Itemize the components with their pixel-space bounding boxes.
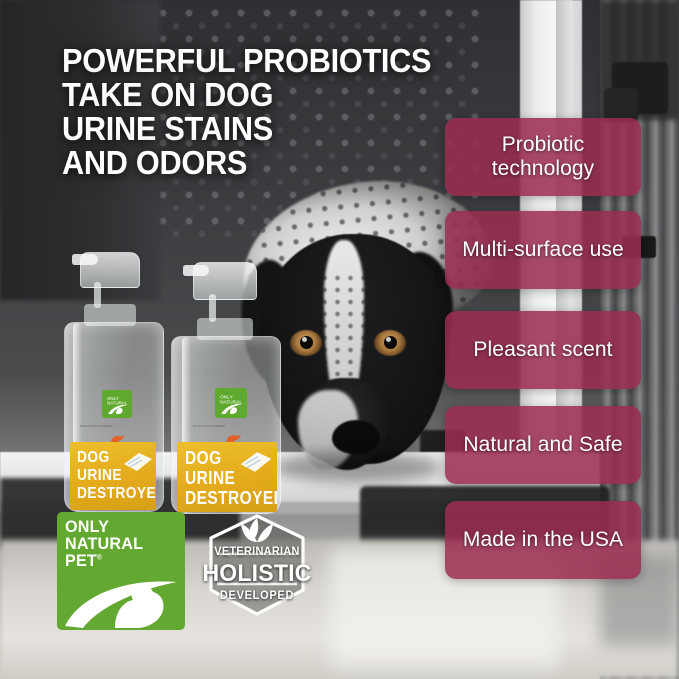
dog-nose bbox=[332, 420, 380, 454]
spray-nozzle-1 bbox=[72, 254, 98, 265]
brand-line-1: ONLY bbox=[65, 518, 143, 535]
bottle-label-line1-2: DOG bbox=[185, 449, 222, 467]
bottle-label-line1-1: DOG bbox=[77, 450, 110, 466]
bottle-dog-icon-1 bbox=[110, 430, 126, 439]
feature-badge-pleasant-scent: Pleasant scent bbox=[445, 311, 641, 389]
page-title: Powerful probiotics take on dog urine st… bbox=[62, 44, 453, 181]
bottle-dog-icon-2 bbox=[225, 430, 241, 439]
feature-badge-made-in-the-usa: Made in the USA bbox=[445, 501, 641, 579]
brand-logo: ONLY NATURAL PET® bbox=[57, 512, 185, 630]
dog-shadow bbox=[272, 452, 442, 482]
product-bottle-1: ONLY NATURAL EUCALYPTUS & ROSEMARY DOG U… bbox=[58, 252, 168, 510]
svg-text:NATURAL: NATURAL bbox=[220, 400, 242, 406]
dog-eye-glint-right bbox=[386, 337, 391, 342]
holistic-bottom-text: DEVELOPED bbox=[200, 590, 314, 602]
headline-line-3: urine stains bbox=[62, 112, 453, 146]
bottle-label-line2-1: URINE bbox=[77, 468, 122, 484]
dog-eye-glint-left bbox=[302, 337, 307, 342]
bottle-label-line3-1: DESTROYER bbox=[77, 486, 156, 502]
bottle-label-1: DOG URINE DESTROYER bbox=[70, 442, 156, 510]
crate-latch-upper-left bbox=[604, 88, 638, 122]
bottle-fineprint-1: EUCALYPTUS & ROSEMARY bbox=[80, 424, 112, 428]
bottle-label-art-2 bbox=[239, 450, 273, 474]
leaf-dog-cat-icon bbox=[57, 564, 185, 630]
brand-logo-text: ONLY NATURAL PET® bbox=[65, 518, 143, 569]
headline-line-4: and odors bbox=[62, 146, 453, 180]
bottle-brand-mark-2: ONLY NATURAL bbox=[215, 388, 247, 418]
brand-trademark: ® bbox=[97, 554, 102, 561]
feature-badge-natural-and-safe: Natural and Safe bbox=[445, 406, 641, 484]
headline-line-2: take on dog bbox=[62, 78, 453, 112]
spray-nozzle-2 bbox=[183, 265, 209, 276]
bottle-label-line3-2: DESTROYER bbox=[185, 489, 277, 507]
feature-badge-multi-surface-use: Multi-surface use bbox=[445, 211, 641, 289]
bottle-label-art-1 bbox=[123, 451, 153, 473]
headline-line-1: Powerful probiotics bbox=[62, 44, 453, 78]
product-bottle-2: ONLY NATURAL EUCALYPTUS & ROSEMARY DOG U… bbox=[167, 262, 283, 512]
bottle-label-2: DOG URINE DESTROYER bbox=[177, 442, 277, 512]
holistic-main-text: HOLISTIC bbox=[199, 560, 314, 588]
bottle-fineprint-2: EUCALYPTUS & ROSEMARY bbox=[193, 424, 225, 428]
veterinarian-holistic-badge: VETERINARIAN HOLISTIC DEVELOPED bbox=[197, 508, 317, 622]
bottle-label-line2-2: URINE bbox=[185, 469, 235, 487]
bottle-brand-mark-1: ONLY NATURAL bbox=[102, 390, 132, 418]
brand-line-2: NATURAL bbox=[65, 535, 143, 552]
advertisement-image: ONLY NATURAL EUCALYPTUS & ROSEMARY DOG U… bbox=[0, 0, 679, 679]
feature-badge-probiotic-technology: Probiotic technology bbox=[445, 118, 641, 196]
holistic-top-text: VETERINARIAN bbox=[200, 546, 314, 558]
